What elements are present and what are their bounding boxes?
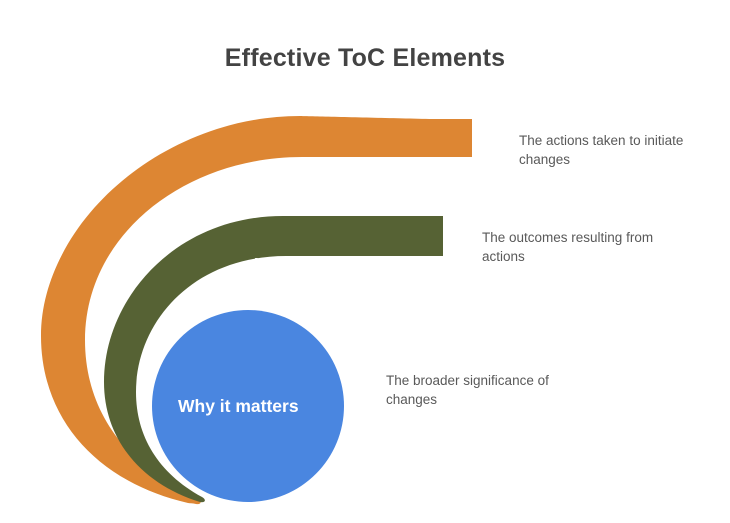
- band-description-what-you-do: The actions taken to initiate changes: [519, 131, 715, 169]
- band-description-what-changes: The outcomes resulting from actions: [482, 228, 682, 266]
- band-label-why-it-matters: Why it matters: [178, 396, 299, 417]
- band-label-what-changes: What changes: [255, 254, 374, 275]
- diagram-canvas: Effective ToC Elements What you do What …: [0, 0, 730, 523]
- band-label-what-you-do: What you do: [305, 157, 410, 178]
- band-description-why-it-matters: The broader significance of changes: [386, 371, 582, 409]
